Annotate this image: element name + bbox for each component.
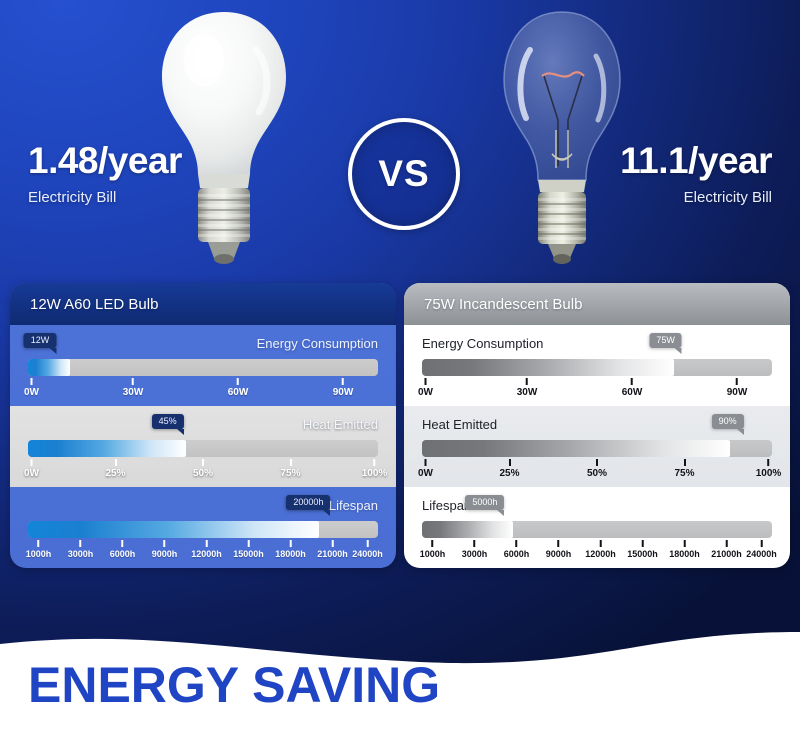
incandescent-cost-caption: Electricity Bill bbox=[620, 189, 772, 206]
axis-tick: 30W bbox=[517, 378, 538, 398]
led-panel-title: 12W A60 LED Bulb bbox=[30, 296, 158, 313]
axis-tick-mark bbox=[526, 378, 528, 385]
metric-track bbox=[422, 359, 772, 376]
axis-tick-mark bbox=[289, 459, 291, 466]
axis-tick: 9000h bbox=[546, 540, 572, 559]
axis-tick: 1000h bbox=[26, 540, 52, 559]
axis-tick-label: 90W bbox=[727, 387, 748, 398]
axis-tick-mark bbox=[80, 540, 82, 547]
metric-fill bbox=[422, 359, 674, 376]
metric-value-flag: 12W bbox=[24, 333, 57, 348]
axis-tick-label: 24000h bbox=[352, 549, 383, 559]
metric-row: Energy Consumption75W0W30W60W90W bbox=[404, 325, 790, 406]
metric-value-flag: 20000h bbox=[286, 495, 330, 510]
metric-fill bbox=[28, 359, 70, 376]
axis-tick: 75% bbox=[674, 459, 694, 479]
axis-tick: 24000h bbox=[746, 540, 777, 559]
axis-tick: 24000h bbox=[352, 540, 383, 559]
axis-tick-mark bbox=[516, 540, 518, 547]
axis-tick-mark bbox=[425, 459, 427, 466]
axis-tick-label: 60W bbox=[228, 387, 249, 398]
axis-tick: 60W bbox=[622, 378, 643, 398]
led-bulb-icon bbox=[158, 8, 290, 266]
axis-tick-mark bbox=[206, 540, 208, 547]
axis-tick-mark bbox=[684, 540, 686, 547]
axis-tick-mark bbox=[683, 459, 685, 466]
metric-track bbox=[28, 440, 378, 457]
footer-headline: ENERGY SAVING bbox=[28, 656, 440, 714]
metric-fill bbox=[422, 521, 513, 538]
axis-tick-label: 0W bbox=[24, 468, 39, 479]
axis-tick-label: 12000h bbox=[191, 549, 222, 559]
axis-tick: 21000h bbox=[711, 540, 742, 559]
axis-tick-mark bbox=[237, 378, 239, 385]
incandescent-panel-title: 75W Incandescent Bulb bbox=[424, 296, 582, 313]
led-cost-caption: Electricity Bill bbox=[28, 189, 182, 206]
axis-tick-label: 90W bbox=[333, 387, 354, 398]
axis-tick-mark bbox=[31, 459, 33, 466]
metric-axis: 1000h3000h6000h9000h12000h15000h18000h21… bbox=[422, 540, 772, 564]
infographic-canvas: 1.48/year Electricity Bill 11.1/year Ele… bbox=[0, 0, 800, 736]
incandescent-cost-block: 11.1/year Electricity Bill bbox=[620, 142, 772, 206]
metric-axis: 1000h3000h6000h9000h12000h15000h18000h21… bbox=[28, 540, 378, 564]
metric-track bbox=[28, 359, 378, 376]
axis-tick-mark bbox=[642, 540, 644, 547]
axis-tick-mark bbox=[132, 378, 134, 385]
footer-banner: ENERGY SAVING bbox=[0, 618, 800, 736]
axis-tick: 3000h bbox=[68, 540, 94, 559]
metric-fill bbox=[422, 440, 730, 457]
led-cost-value: 1.48/year bbox=[28, 142, 182, 179]
metric-track bbox=[422, 440, 772, 457]
incandescent-bulb-icon bbox=[500, 8, 624, 266]
metric-axis: 0W30W60W90W bbox=[28, 378, 378, 402]
axis-tick-mark bbox=[631, 378, 633, 385]
axis-tick-mark bbox=[38, 540, 40, 547]
led-cost-block: 1.48/year Electricity Bill bbox=[28, 142, 182, 206]
axis-tick-label: 9000h bbox=[546, 549, 572, 559]
axis-tick-label: 75% bbox=[280, 468, 300, 479]
metric-row: Lifespan5000h1000h3000h6000h9000h12000h1… bbox=[404, 487, 790, 568]
axis-tick: 25% bbox=[499, 459, 519, 479]
metric-value-flag: 5000h bbox=[465, 495, 504, 510]
axis-tick: 0W bbox=[24, 378, 39, 398]
axis-tick: 50% bbox=[193, 459, 213, 479]
metric-value-flag: 45% bbox=[152, 414, 184, 429]
axis-tick: 6000h bbox=[504, 540, 530, 559]
axis-tick: 50% bbox=[587, 459, 607, 479]
axis-tick-label: 60W bbox=[622, 387, 643, 398]
axis-tick-mark bbox=[164, 540, 166, 547]
axis-tick: 25% bbox=[105, 459, 125, 479]
metric-label: Lifespan bbox=[329, 498, 378, 513]
axis-tick-label: 9000h bbox=[152, 549, 178, 559]
metric-axis: 0W25%50%75%100% bbox=[28, 459, 378, 483]
axis-tick-label: 3000h bbox=[462, 549, 488, 559]
axis-tick-label: 30W bbox=[517, 387, 538, 398]
axis-tick-label: 18000h bbox=[275, 549, 306, 559]
metric-fill bbox=[28, 521, 319, 538]
metric-value-flag: 90% bbox=[712, 414, 744, 429]
axis-tick: 18000h bbox=[669, 540, 700, 559]
metric-track bbox=[28, 521, 378, 538]
vs-label: VS bbox=[378, 153, 429, 195]
metric-row: Heat Emitted90%0W25%50%75%100% bbox=[404, 406, 790, 487]
axis-tick-label: 0W bbox=[418, 387, 433, 398]
axis-tick: 9000h bbox=[152, 540, 178, 559]
axis-tick: 90W bbox=[727, 378, 748, 398]
axis-tick-label: 0W bbox=[24, 387, 39, 398]
axis-tick: 90W bbox=[333, 378, 354, 398]
axis-tick-mark bbox=[558, 540, 560, 547]
axis-tick-label: 21000h bbox=[711, 549, 742, 559]
axis-tick-label: 15000h bbox=[627, 549, 658, 559]
vs-badge: VS bbox=[348, 118, 460, 230]
axis-tick: 0W bbox=[24, 459, 39, 479]
incandescent-panel-header: 75W Incandescent Bulb bbox=[404, 283, 790, 325]
axis-tick: 0W bbox=[418, 378, 433, 398]
axis-tick-mark bbox=[31, 378, 33, 385]
metric-label: Heat Emitted bbox=[422, 417, 497, 432]
axis-tick: 60W bbox=[228, 378, 249, 398]
axis-tick-label: 75% bbox=[674, 468, 694, 479]
axis-tick: 0W bbox=[418, 459, 433, 479]
metric-row: Energy Consumption12W0W30W60W90W bbox=[10, 325, 396, 406]
led-metric-rows: Energy Consumption12W0W30W60W90WHeat Emi… bbox=[10, 325, 396, 568]
axis-tick: 100% bbox=[362, 459, 388, 479]
axis-tick: 30W bbox=[123, 378, 144, 398]
axis-tick: 15000h bbox=[627, 540, 658, 559]
axis-tick-label: 100% bbox=[756, 468, 782, 479]
axis-tick: 1000h bbox=[420, 540, 446, 559]
metric-label: Heat Emitted bbox=[303, 417, 378, 432]
axis-tick-label: 21000h bbox=[317, 549, 348, 559]
axis-tick-mark bbox=[767, 459, 769, 466]
axis-tick-label: 50% bbox=[193, 468, 213, 479]
axis-tick-mark bbox=[122, 540, 124, 547]
axis-tick-mark bbox=[425, 378, 427, 385]
axis-tick-label: 15000h bbox=[233, 549, 264, 559]
axis-tick-mark bbox=[736, 378, 738, 385]
axis-tick-mark bbox=[726, 540, 728, 547]
axis-tick-mark bbox=[114, 459, 116, 466]
axis-tick-mark bbox=[373, 459, 375, 466]
axis-tick: 21000h bbox=[317, 540, 348, 559]
axis-tick-label: 1000h bbox=[420, 549, 446, 559]
axis-tick-mark bbox=[596, 459, 598, 466]
axis-tick: 12000h bbox=[585, 540, 616, 559]
axis-tick-label: 50% bbox=[587, 468, 607, 479]
axis-tick-label: 6000h bbox=[110, 549, 136, 559]
metric-value-flag: 75W bbox=[649, 333, 682, 348]
axis-tick-mark bbox=[342, 378, 344, 385]
metric-axis: 0W25%50%75%100% bbox=[422, 459, 772, 483]
axis-tick-mark bbox=[202, 459, 204, 466]
axis-tick-label: 12000h bbox=[585, 549, 616, 559]
axis-tick: 75% bbox=[280, 459, 300, 479]
axis-tick-mark bbox=[761, 540, 763, 547]
axis-tick-label: 3000h bbox=[68, 549, 94, 559]
axis-tick: 6000h bbox=[110, 540, 136, 559]
axis-tick-mark bbox=[367, 540, 369, 547]
axis-tick: 100% bbox=[756, 459, 782, 479]
metric-track bbox=[422, 521, 772, 538]
incandescent-cost-value: 11.1/year bbox=[620, 142, 772, 179]
metric-label: Energy Consumption bbox=[257, 336, 378, 351]
axis-tick-mark bbox=[474, 540, 476, 547]
axis-tick-label: 18000h bbox=[669, 549, 700, 559]
axis-tick-label: 30W bbox=[123, 387, 144, 398]
axis-tick-label: 6000h bbox=[504, 549, 530, 559]
metric-row: Lifespan20000h1000h3000h6000h9000h12000h… bbox=[10, 487, 396, 568]
axis-tick-mark bbox=[432, 540, 434, 547]
incandescent-comparison-panel: 75W Incandescent Bulb Energy Consumption… bbox=[404, 283, 790, 568]
axis-tick-label: 1000h bbox=[26, 549, 52, 559]
axis-tick-mark bbox=[248, 540, 250, 547]
axis-tick-label: 25% bbox=[499, 468, 519, 479]
axis-tick-label: 24000h bbox=[746, 549, 777, 559]
axis-tick-label: 0W bbox=[418, 468, 433, 479]
axis-tick-mark bbox=[290, 540, 292, 547]
axis-tick-mark bbox=[508, 459, 510, 466]
incandescent-metric-rows: Energy Consumption75W0W30W60W90WHeat Emi… bbox=[404, 325, 790, 568]
metric-row: Heat Emitted45%0W25%50%75%100% bbox=[10, 406, 396, 487]
led-comparison-panel: 12W A60 LED Bulb Energy Consumption12W0W… bbox=[10, 283, 396, 568]
axis-tick: 18000h bbox=[275, 540, 306, 559]
metric-fill bbox=[28, 440, 186, 457]
axis-tick-label: 25% bbox=[105, 468, 125, 479]
hero-comparison: 1.48/year Electricity Bill 11.1/year Ele… bbox=[0, 0, 800, 278]
axis-tick: 15000h bbox=[233, 540, 264, 559]
led-panel-header: 12W A60 LED Bulb bbox=[10, 283, 396, 325]
axis-tick: 12000h bbox=[191, 540, 222, 559]
metric-label: Lifespan bbox=[422, 498, 471, 513]
axis-tick-mark bbox=[332, 540, 334, 547]
axis-tick-mark bbox=[600, 540, 602, 547]
metric-axis: 0W30W60W90W bbox=[422, 378, 772, 402]
axis-tick-label: 100% bbox=[362, 468, 388, 479]
axis-tick: 3000h bbox=[462, 540, 488, 559]
metric-label: Energy Consumption bbox=[422, 336, 543, 351]
